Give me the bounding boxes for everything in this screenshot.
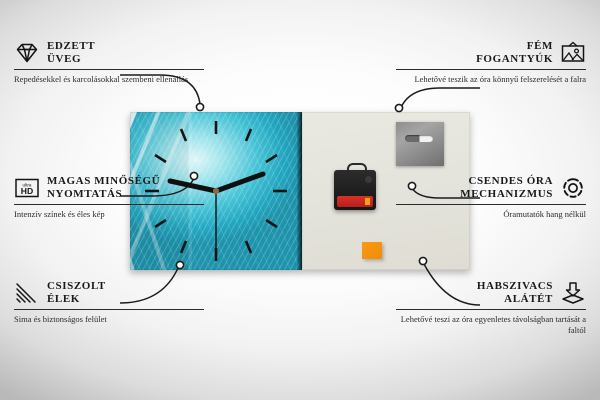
feature-header: CSISZOLT ÉLEK (14, 280, 204, 305)
feature-header: FÉM FOGANTYÚK (396, 40, 586, 65)
arrow-onto-pad-icon (560, 281, 586, 305)
feature-title: FÉM FOGANTYÚK (476, 40, 553, 65)
divider (396, 309, 586, 310)
feature-description: Lehetővé teszi az óra egyenletes távolsá… (396, 314, 586, 335)
clock-dial (130, 112, 302, 270)
wire-handles (400, 88, 480, 110)
feature-description: Repedésekkel és karcolásokkal szembeni e… (14, 74, 204, 85)
metal-hanger-large (396, 122, 444, 166)
feature-header: EDZETT ÜVEG (14, 40, 204, 65)
picture-hanger-icon (560, 41, 586, 65)
wire-endpoint-handles (395, 104, 402, 111)
divider (396, 69, 586, 70)
feature-metal-handles: FÉM FOGANTYÚK Lehetővé teszik az óra kön… (396, 40, 586, 85)
gear-icon (560, 176, 586, 200)
wire-endpoint-tempered-glass (196, 103, 203, 110)
ultra-hd-icon: ultra HD (14, 176, 40, 200)
feature-description: Lehetővé teszik az óra könnyű felszerelé… (396, 74, 586, 85)
feature-silent-mechanism: CSENDES ÓRA MECHANIZMUS Óramutatók hang … (396, 175, 586, 220)
feature-header: HABSZIVACS ALÁTÉT (396, 280, 586, 305)
feature-header: CSENDES ÓRA MECHANIZMUS (396, 175, 586, 200)
hanger-slot (405, 135, 433, 142)
feature-title: CSISZOLT ÉLEK (47, 280, 106, 305)
bevel-lines-icon (14, 281, 40, 305)
infographic-canvas: EDZETT ÜVEG Repedésekkel és karcolásokka… (0, 0, 600, 400)
clock-mechanism (334, 170, 376, 210)
feature-title: CSENDES ÓRA MECHANIZMUS (460, 175, 553, 200)
clock-front-glass-panel (130, 112, 302, 270)
svg-text:HD: HD (21, 186, 33, 196)
diamond-icon (14, 41, 40, 65)
feature-title: EDZETT ÜVEG (47, 40, 95, 65)
divider (396, 204, 586, 205)
divider (14, 69, 204, 70)
feature-tempered-glass: EDZETT ÜVEG Repedésekkel és karcolásokka… (14, 40, 204, 85)
feature-title: HABSZIVACS ALÁTÉT (477, 280, 553, 305)
feature-polished-edges: CSISZOLT ÉLEK Sima és biztonságos felüle… (14, 280, 204, 325)
feature-foam-pad: HABSZIVACS ALÁTÉT Lehetővé teszi az óra … (396, 280, 586, 335)
feature-description: Óramutatók hang nélkül (396, 209, 586, 220)
feature-description: Sima és biztonságos felület (14, 314, 204, 325)
battery-compartment (337, 196, 373, 207)
mechanism-hanger-loop (347, 163, 367, 175)
mechanism-knob (365, 176, 372, 183)
foam-pad-sample (362, 242, 382, 259)
divider (14, 309, 204, 310)
